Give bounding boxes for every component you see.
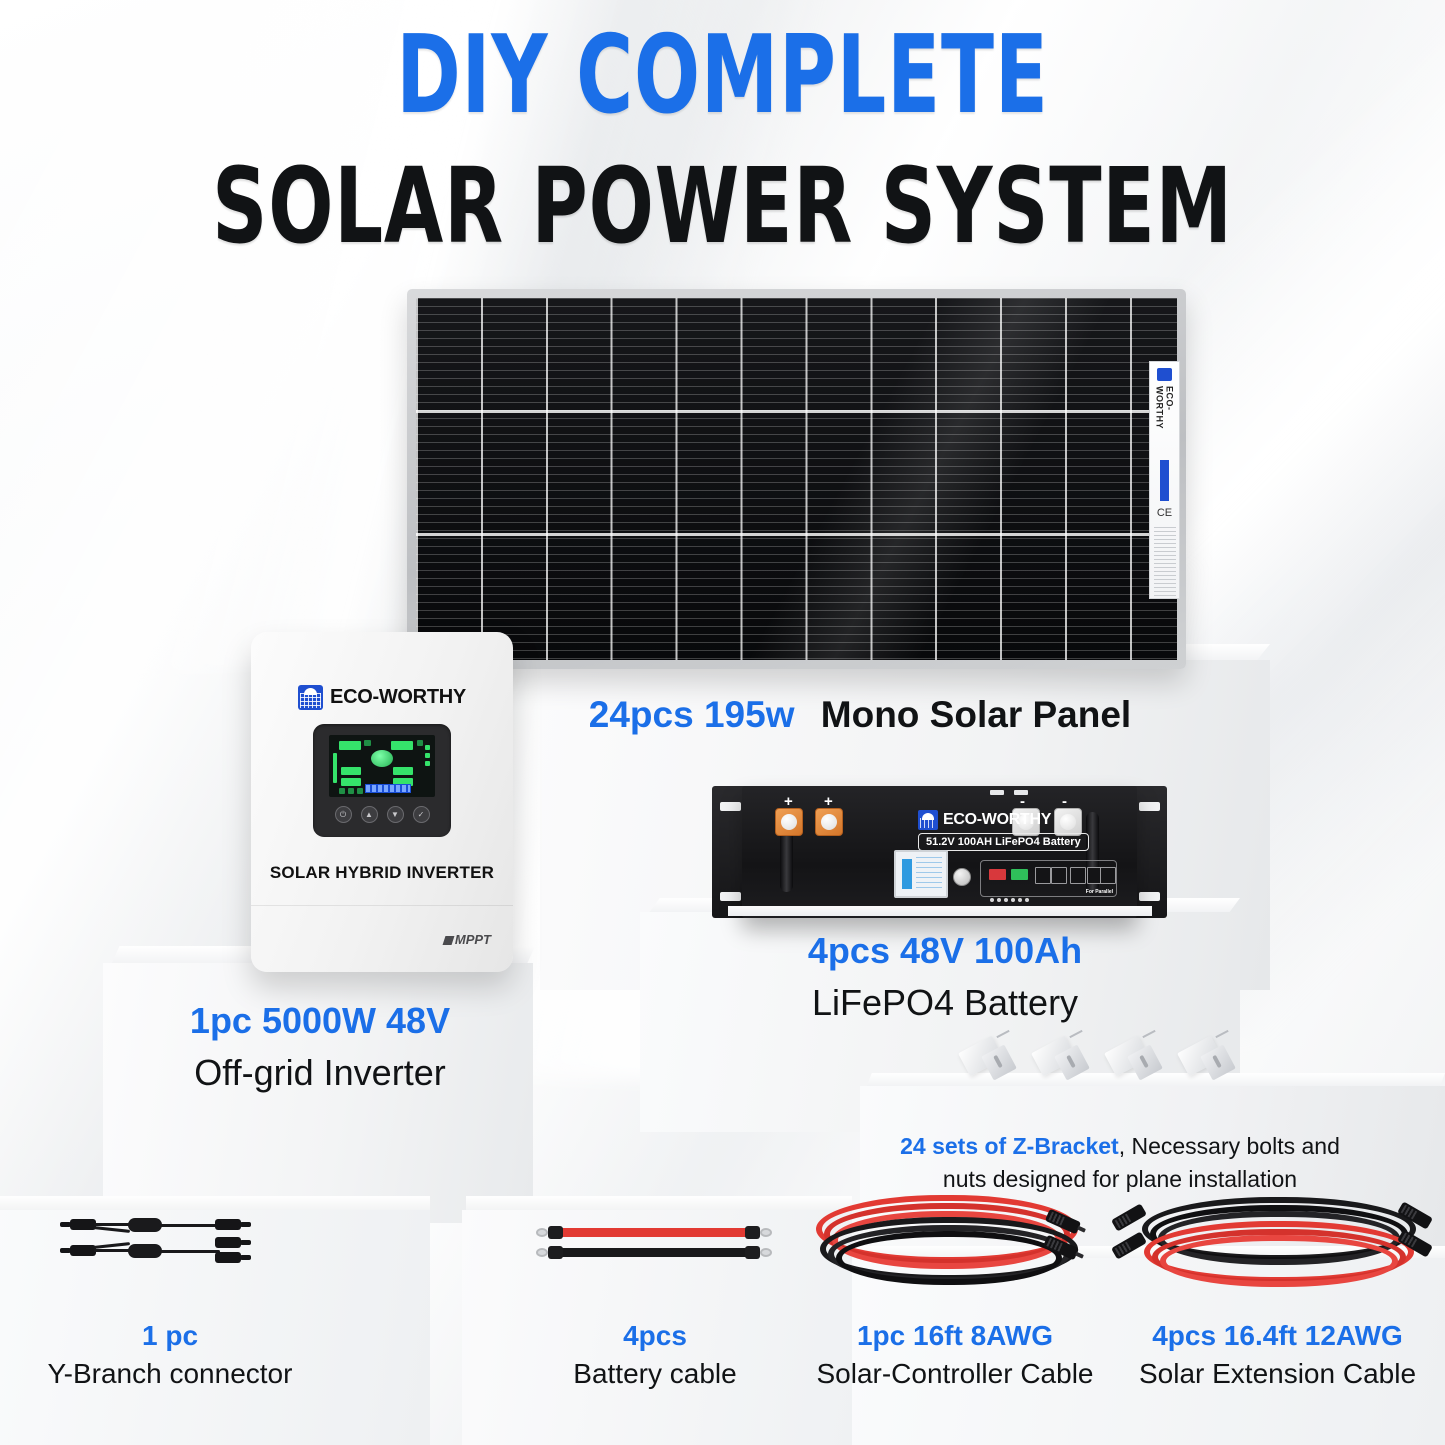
inverter-display-panel: ⏻ ▲ ▼ ✓ [313,724,451,837]
label-controller-cable: 1pc 16ft 8AWG Solar-Controller Cable [795,1320,1115,1391]
z-bracket [1181,1035,1235,1087]
solar-controller-cable [806,1193,1096,1283]
positive-sign: + [784,794,793,809]
inverter-button-row[interactable]: ⏻ ▲ ▼ ✓ [335,806,430,823]
battery-spec-label: 51.2V 100AH LiFePO4 Battery [918,833,1089,851]
reset-button[interactable] [989,869,1006,880]
label-extension-cable-qty: 4pcs 16.4ft 12AWG [1110,1320,1445,1352]
eco-worthy-logo-icon [918,810,938,830]
z-bracket [962,1035,1016,1087]
label-zbracket-name: , Necessary bolts and [1119,1133,1340,1159]
battery-lcd-screen [894,850,948,898]
label-battery-cable-name: Battery cable [495,1358,815,1390]
power-icon[interactable]: ⏻ [335,806,352,823]
lifepo4-battery: + + - - ECO-WORTHY 51.2V 100AH LiFePO4 B… [712,786,1167,918]
label-zbracket-name2: nuts designed for plane installation [870,1166,1370,1193]
lcd-orb-icon [371,750,393,767]
label-ybranch-name: Y-Branch connector [10,1358,330,1390]
negative-sign: - [1062,794,1067,809]
label-controller-cable-qty: 1pc 16ft 8AWG [795,1320,1115,1352]
inverter-seam [251,905,513,906]
battery-front-panel: + + - - ECO-WORTHY 51.2V 100AH LiFePO4 B… [742,786,1137,918]
battery-brand-text: ECO-WORTHY [943,811,1051,829]
port-notch [990,790,1004,795]
label-battery-cable: 4pcs Battery cable [495,1320,815,1391]
z-bracket [1035,1035,1089,1087]
inverter-brand: ECO-WORTHY [298,685,466,710]
dip-switch[interactable] [1011,869,1028,880]
down-icon[interactable]: ▼ [387,806,404,823]
lcd-bar-graph [365,784,411,793]
positive-sign: + [824,794,833,809]
headline-secondary: SOLAR POWER SYSTEM [130,154,1315,258]
inverter-lcd [329,735,435,797]
label-panel-qty: 24pcs 195w [589,694,795,735]
label-extension-cable-name: Solar Extension Cable [1110,1358,1445,1390]
solar-extension-cable [1118,1195,1438,1287]
port-group-label: For Parallel [1086,889,1113,895]
battery-cable-group [530,1224,780,1270]
label-extension-cable: 4pcs 16.4ft 12AWG Solar Extension Cable [1110,1320,1445,1391]
solar-panel: ECO-WORTHY CE [407,289,1186,669]
battery-brand: ECO-WORTHY [918,810,1051,830]
battery-led-row [990,898,1029,902]
ce-mark-icon: CE [1157,507,1172,519]
panel-spec-label: ECO-WORTHY CE [1149,361,1180,599]
battery-terminal-negative [1054,808,1082,836]
label-zbracket-qty: 24 sets of Z-Bracket [900,1133,1119,1159]
panel-glass [416,298,1177,660]
battery-cable-black [550,1248,758,1257]
battery-terminal-positive [815,808,843,836]
label-ybranch-qty: 1 pc [10,1320,330,1352]
label-panel-name: Mono Solar Panel [821,694,1131,735]
label-ybranch: 1 pc Y-Branch connector [10,1320,330,1391]
inverter-model-title: SOLAR HYBRID INVERTER [270,863,494,883]
eco-worthy-logo-icon [298,685,323,710]
panel-label-logo-icon [1157,368,1172,381]
label-zbracket: 24 sets of Z-Bracket, Necessary bolts an… [870,1133,1370,1192]
port-notch [1014,790,1028,795]
battery-shadow-shelf [728,906,1152,916]
infographic-canvas: DIY COMPLETE SOLAR POWER SYSTEM [0,0,1445,1445]
battery-breaker-knob[interactable] [953,868,971,886]
rj45-port[interactable] [1035,867,1051,884]
label-battery-cable-qty: 4pcs [495,1320,815,1352]
solar-hybrid-inverter: ECO-WORTHY [251,632,513,972]
rj45-port[interactable] [1051,867,1067,884]
label-battery-qty: 4pcs 48V 100Ah [745,930,1145,972]
rj45-port[interactable] [1070,867,1086,884]
panel-glare [416,298,1177,660]
headline-primary: DIY COMPLETE [145,22,1301,130]
z-bracket [1108,1035,1162,1087]
battery-cable-red [550,1228,758,1237]
label-battery: 4pcs 48V 100Ah LiFePO4 Battery [745,930,1145,1024]
label-inverter: 1pc 5000W 48V Off-grid Inverter [120,1000,520,1094]
headline-block: DIY COMPLETE SOLAR POWER SYSTEM [0,22,1445,258]
battery-port-group: For Parallel [980,860,1117,897]
label-inverter-name: Off-grid Inverter [120,1052,520,1094]
enter-icon[interactable]: ✓ [413,806,430,823]
panel-label-bar [1160,460,1169,501]
label-controller-cable-name: Solar-Controller Cable [795,1358,1115,1390]
battery-terminal-positive [775,808,803,836]
label-battery-name: LiFePO4 Battery [745,982,1145,1024]
y-branch-connector [60,1212,320,1274]
mppt-badge: MPPT [444,932,491,947]
label-inverter-qty: 1pc 5000W 48V [120,1000,520,1042]
inverter-brand-text: ECO-WORTHY [330,686,466,709]
rj45-port[interactable] [1100,867,1116,884]
panel-label-fineprint [1154,527,1176,598]
negative-sign: - [1020,794,1025,809]
up-icon[interactable]: ▲ [361,806,378,823]
label-panel: 24pcs 195w Mono Solar Panel [540,694,1180,737]
panel-label-brand: ECO-WORTHY [1155,386,1175,446]
